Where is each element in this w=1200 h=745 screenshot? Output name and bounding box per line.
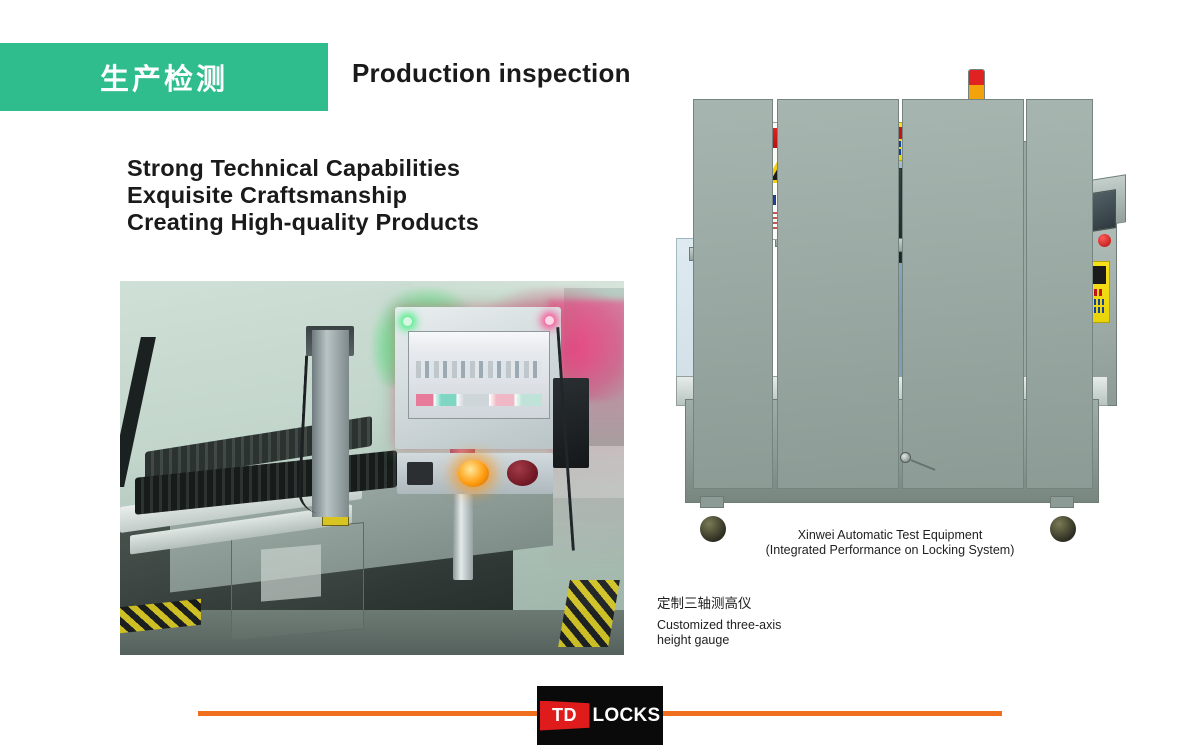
logo-wordmark: LOCKS [593, 705, 661, 727]
headline-line-1: Strong Technical Capabilities [127, 155, 479, 182]
cabinet-door-4[interactable] [1026, 99, 1093, 489]
indicator-led-magenta [545, 316, 554, 325]
hmi-button-row [416, 394, 542, 406]
caster-bracket-left [700, 496, 724, 508]
page-title: Production inspection [352, 58, 631, 89]
cabinet-lock-icon[interactable] [900, 452, 911, 463]
signal-tower-amber [969, 85, 984, 100]
caption-left-chinese: 定制三轴测高仪 [657, 595, 917, 614]
caption-right-line-2: (Integrated Performance on Locking Syste… [680, 543, 1100, 558]
brand-logo: TD LOCKS [537, 686, 663, 745]
caption-left-english-line-1: Customized three-axis [657, 618, 917, 633]
indicator-led-green [403, 317, 412, 326]
cabinet-door-2[interactable] [777, 99, 899, 489]
headline-line-3: Creating High-quality Products [127, 209, 479, 236]
cabinet-door-1[interactable] [693, 99, 772, 489]
photo-test-equipment [676, 62, 1106, 524]
hmi-touchscreen[interactable] [408, 331, 550, 418]
hmi-panel [395, 307, 561, 449]
section-badge-label: 生产检测 [0, 43, 328, 111]
slide-root: 生产检测 Production inspection Strong Techni… [0, 0, 1200, 745]
cabinet-door-3[interactable] [902, 99, 1024, 489]
caption-height-gauge: 定制三轴测高仪 Customized three-axis height gau… [657, 595, 917, 648]
signal-tower-red [969, 70, 984, 85]
emergency-stop-button[interactable] [507, 460, 538, 485]
illuminated-start-button[interactable] [458, 460, 489, 487]
caption-test-equipment: Xinwei Automatic Test Equipment (Integra… [680, 528, 1100, 558]
headline-line-2: Exquisite Craftsmanship [127, 182, 479, 209]
hmi-icon-row [416, 361, 542, 378]
caption-left-english-line-2: height gauge [657, 633, 917, 648]
logo-td-text: TD [552, 705, 577, 726]
caption-left-english: Customized three-axis height gauge [657, 618, 917, 648]
cabinet-label [261, 544, 321, 602]
logo-td-mark: TD [540, 701, 590, 731]
operator-button-panel [397, 453, 553, 494]
photo-height-gauge [120, 281, 624, 655]
caption-right-line-1: Xinwei Automatic Test Equipment [680, 528, 1100, 543]
selector-switch[interactable] [407, 462, 434, 485]
caster-bracket-right [1050, 496, 1074, 508]
headline-block: Strong Technical Capabilities Exquisite … [127, 155, 479, 236]
section-badge: 生产检测 [0, 43, 328, 111]
